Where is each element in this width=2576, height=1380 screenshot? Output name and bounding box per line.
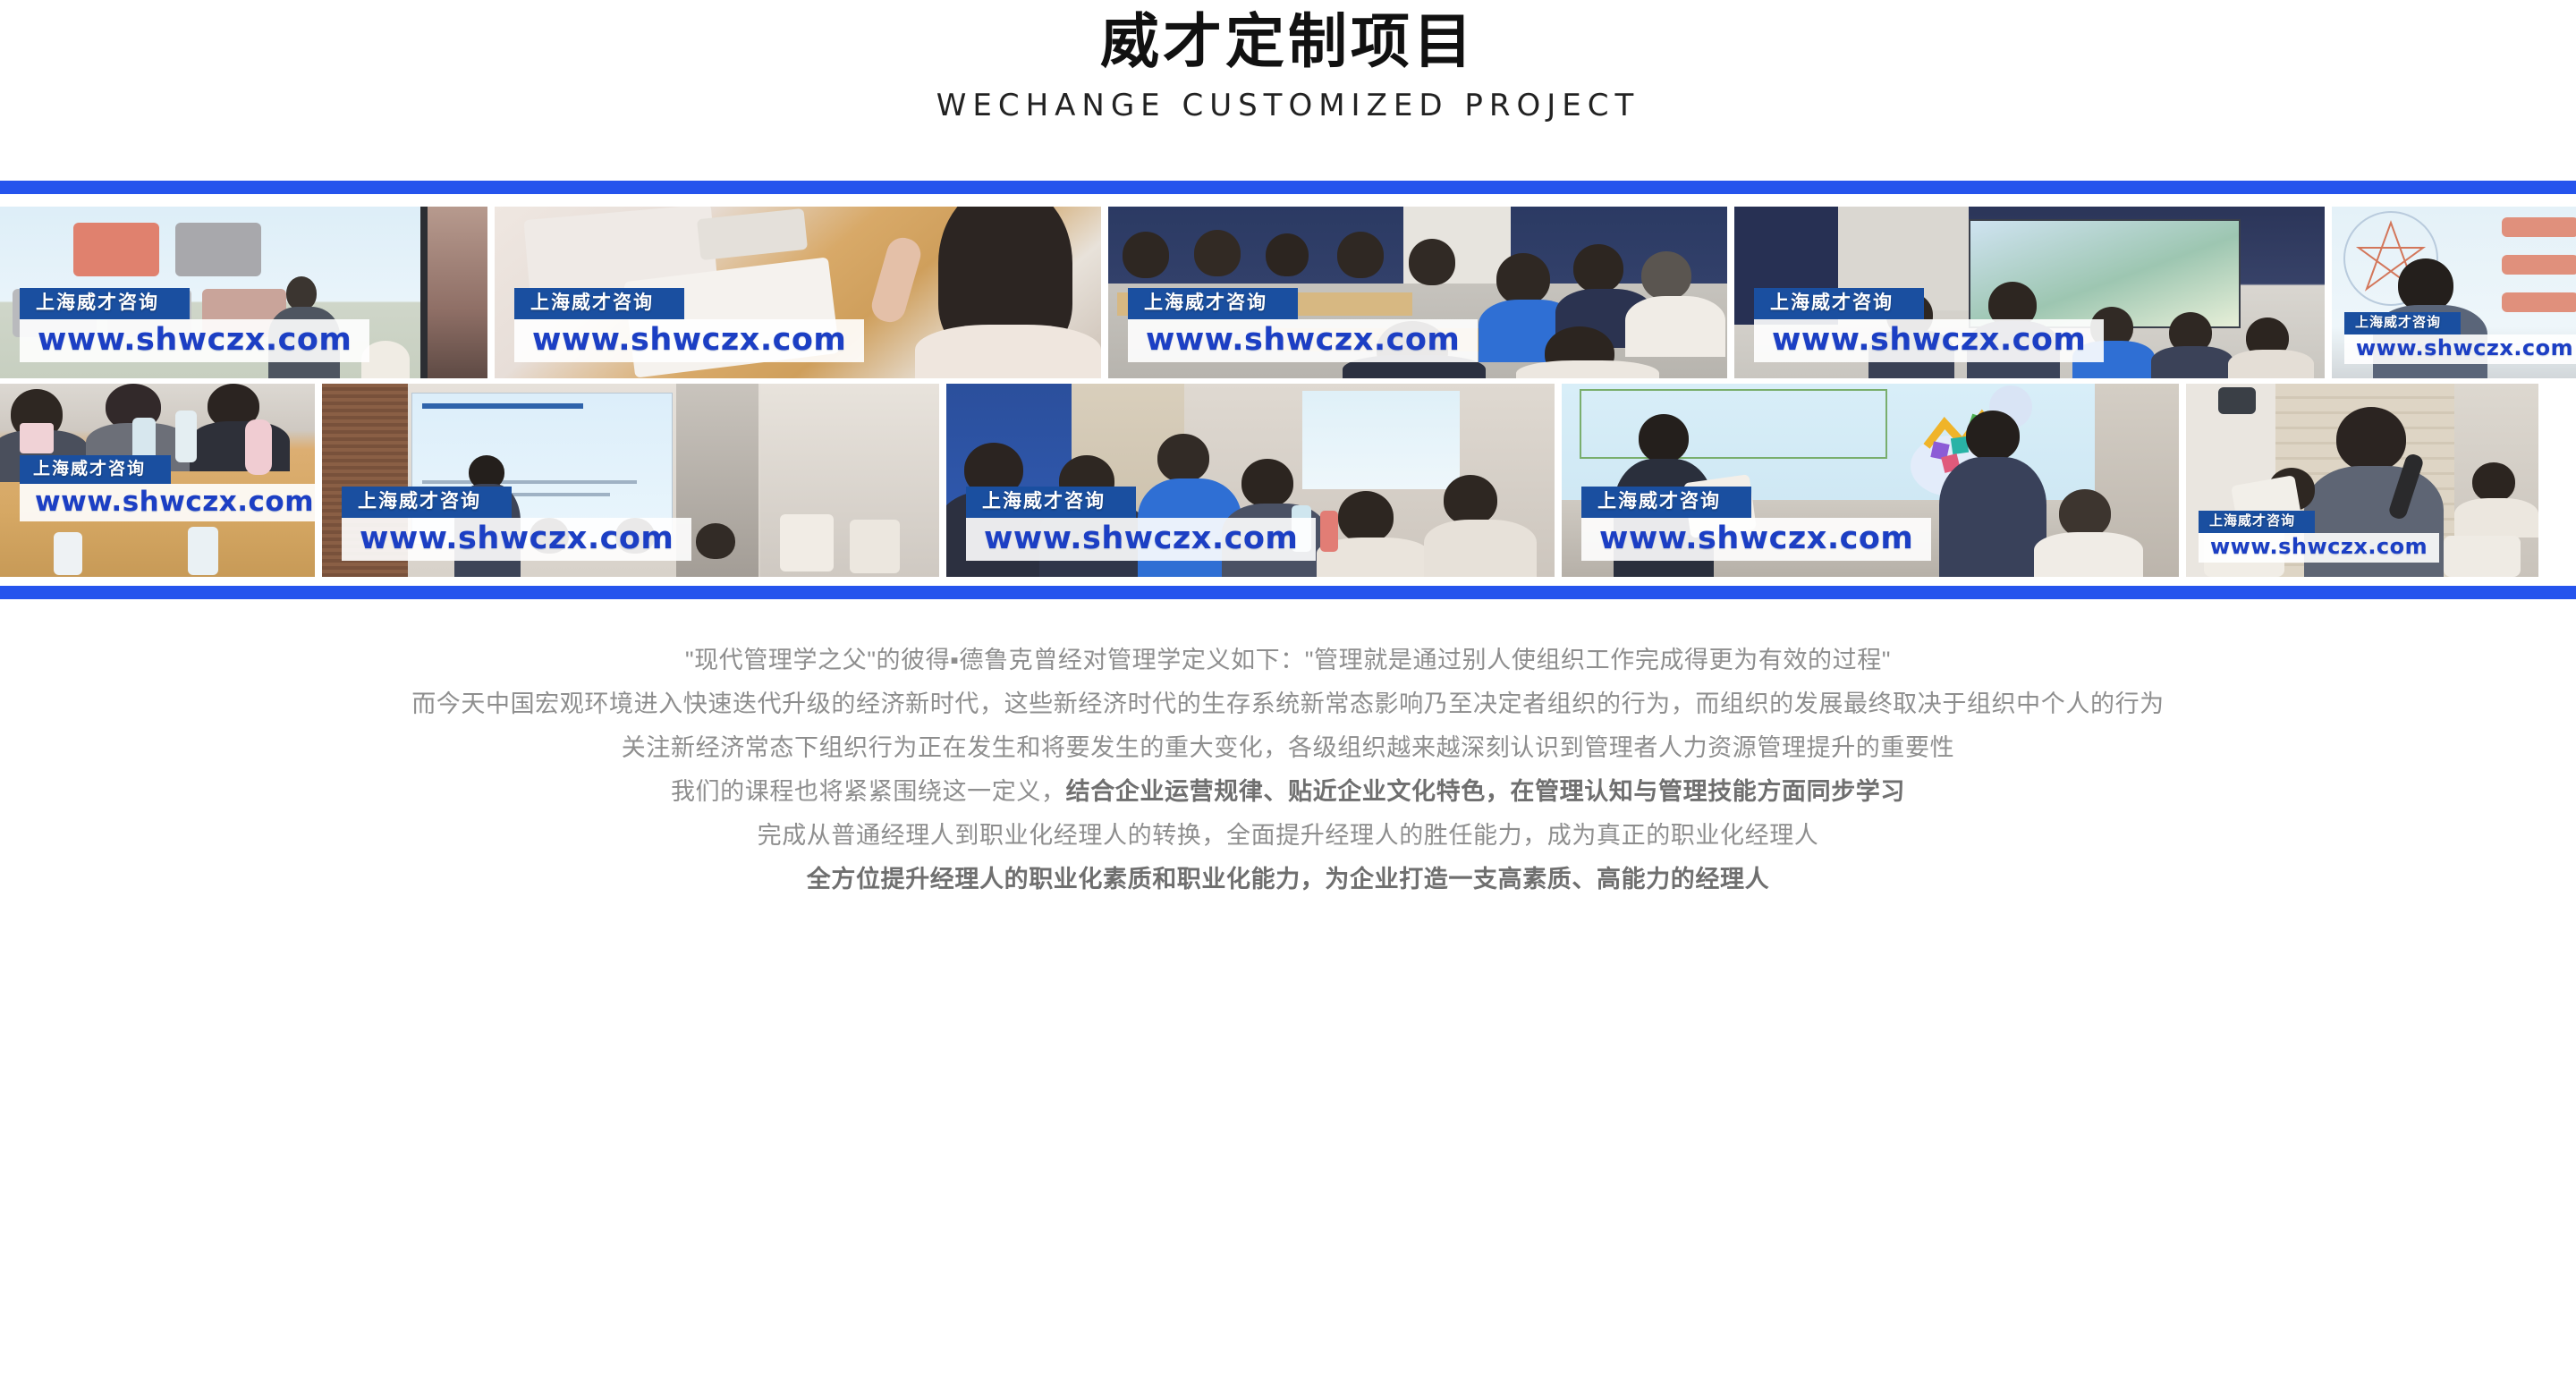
gallery-photo-r2c4[interactable]: 上海威才咨询 www.shwczx.com (1562, 384, 2179, 577)
gallery-photo-r1c4[interactable]: 上海威才咨询 www.shwczx.com (1734, 207, 2325, 378)
watermark-r2c3: 上海威才咨询 www.shwczx.com (966, 487, 1316, 561)
watermark-company-tag: 上海威才咨询 (1754, 288, 1924, 318)
page-header: 威才定制项目 WECHANGE CUSTOMIZED PROJECT (0, 0, 2576, 123)
footer-line-3: 关注新经济常态下组织行为正在发生和将要发生的重大变化，各级组织越来越深刻认识到管… (0, 726, 2576, 770)
footer-normal-text: 而今天中国宏观环境进入快速迭代升级的经济新时代，这些新经济时代的生存系统新常态影… (411, 690, 2165, 717)
watermark-url: www.shwczx.com (2199, 533, 2439, 563)
gallery-photo-r2c5[interactable]: 上海威才咨询 www.shwczx.com (2186, 384, 2538, 577)
gallery-row-1: 上海威才咨询 www.shwczx.com 上海威才咨询 www.shwczx.… (0, 207, 2576, 378)
gallery-photo-r1c1[interactable]: 上海威才咨询 www.shwczx.com (0, 207, 487, 378)
footer-line-1: "现代管理学之父"的彼得▪德鲁克曾经对管理学定义如下："管理就是通过别人使组织工… (0, 639, 2576, 682)
watermark-company-tag: 上海威才咨询 (514, 288, 684, 318)
gallery-photo-r2c2[interactable]: 上海威才咨询 www.shwczx.com (322, 384, 939, 577)
gallery-photo-r1c3[interactable]: 上海威才咨询 www.shwczx.com (1108, 207, 1727, 378)
watermark-company-tag: 上海威才咨询 (2199, 511, 2315, 533)
footer-description: "现代管理学之父"的彼得▪德鲁克曾经对管理学定义如下："管理就是通过别人使组织工… (0, 599, 2576, 902)
watermark-url: www.shwczx.com (2344, 334, 2576, 364)
gallery-row-2: 上海威才咨询 www.shwczx.com (0, 384, 2576, 577)
divider-bar-top (0, 181, 2576, 194)
watermark-r1c4: 上海威才咨询 www.shwczx.com (1754, 288, 2104, 362)
watermark-url: www.shwczx.com (1754, 319, 2104, 363)
page-title-chinese: 威才定制项目 (0, 7, 2576, 77)
footer-line-5: 完成从普通经理人到职业化经理人的转换，全面提升经理人的胜任能力，成为真正的职业化… (0, 814, 2576, 858)
watermark-r1c5: 上海威才咨询 www.shwczx.com (2344, 312, 2576, 364)
watermark-company-tag: 上海威才咨询 (20, 455, 171, 484)
footer-line-2: 而今天中国宏观环境进入快速迭代升级的经济新时代，这些新经济时代的生存系统新常态影… (0, 682, 2576, 726)
watermark-url: www.shwczx.com (1128, 319, 1478, 363)
watermark-url: www.shwczx.com (966, 518, 1316, 562)
gallery-photo-r1c5[interactable]: 上海威才咨询 www.shwczx.com (2332, 207, 2576, 378)
footer-line-6: 全方位提升经理人的职业化素质和职业化能力，为企业打造一支高素质、高能力的经理人 (0, 858, 2576, 902)
watermark-company-tag: 上海威才咨询 (1581, 487, 1751, 517)
watermark-company-tag: 上海威才咨询 (20, 288, 190, 318)
watermark-company-tag: 上海威才咨询 (342, 487, 512, 517)
watermark-r2c2: 上海威才咨询 www.shwczx.com (342, 487, 691, 561)
watermark-company-tag: 上海威才咨询 (1128, 288, 1298, 318)
watermark-r1c1: 上海威才咨询 www.shwczx.com (20, 288, 369, 362)
footer-normal-text: "现代管理学之父"的彼得▪德鲁克曾经对管理学定义如下："管理就是通过别人使组织工… (685, 647, 1891, 673)
watermark-url: www.shwczx.com (514, 319, 864, 363)
gallery-photo-r2c1[interactable]: 上海威才咨询 www.shwczx.com (0, 384, 315, 577)
watermark-company-tag: 上海威才咨询 (966, 487, 1136, 517)
watermark-r2c4: 上海威才咨询 www.shwczx.com (1581, 487, 1931, 561)
watermark-url: www.shwczx.com (20, 484, 315, 522)
gallery-photo-r1c2[interactable]: 上海威才咨询 www.shwczx.com (495, 207, 1101, 378)
divider-bar-bottom (0, 586, 2576, 599)
watermark-company-tag: 上海威才咨询 (2344, 312, 2461, 334)
footer-emphasis-text: 全方位提升经理人的职业化素质和职业化能力，为企业打造一支高素质、高能力的经理人 (807, 866, 1769, 893)
watermark-r2c1: 上海威才咨询 www.shwczx.com (20, 455, 315, 521)
watermark-r2c5: 上海威才咨询 www.shwczx.com (2199, 511, 2439, 563)
footer-line-4: 我们的课程也将紧紧围绕这一定义，结合企业运营规律、贴近企业文化特色，在管理认知与… (0, 770, 2576, 814)
footer-normal-text: 我们的课程也将紧紧围绕这一定义， (671, 778, 1066, 805)
page-title-english: WECHANGE CUSTOMIZED PROJECT (0, 89, 2576, 123)
watermark-url: www.shwczx.com (1581, 518, 1931, 562)
watermark-url: www.shwczx.com (342, 518, 691, 562)
footer-emphasis-text: 结合企业运营规律、贴近企业文化特色，在管理认知与管理技能方面同步学习 (1066, 778, 1905, 805)
gallery-photo-r2c3[interactable]: 上海威才咨询 www.shwczx.com (946, 384, 1555, 577)
watermark-r1c2: 上海威才咨询 www.shwczx.com (514, 288, 864, 362)
watermark-r1c3: 上海威才咨询 www.shwczx.com (1128, 288, 1478, 362)
watermark-url: www.shwczx.com (20, 319, 369, 363)
footer-normal-text: 关注新经济常态下组织行为正在发生和将要发生的重大变化，各级组织越来越深刻认识到管… (622, 734, 1954, 761)
footer-normal-text: 完成从普通经理人到职业化经理人的转换，全面提升经理人的胜任能力，成为真正的职业化… (758, 822, 1819, 849)
photo-gallery: 上海威才咨询 www.shwczx.com 上海威才咨询 www.shwczx.… (0, 207, 2576, 577)
